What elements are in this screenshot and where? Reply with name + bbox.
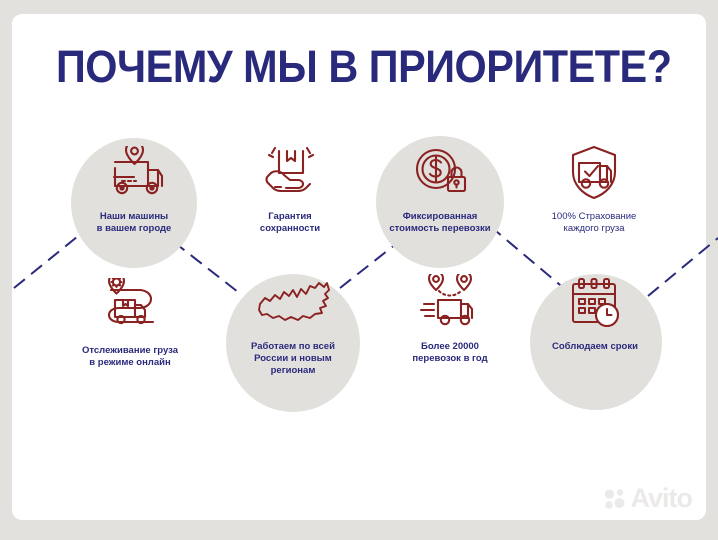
- feature-label: Фиксированная стоимость перевозки: [370, 211, 510, 235]
- feature-own-fleet[interactable]: Наши машины в вашем городе: [64, 142, 204, 235]
- feature-label: Соблюдаем сроки: [525, 341, 665, 353]
- feature-label: Более 20000 перевозок в год: [380, 341, 520, 365]
- feature-label: Наши машины в вашем городе: [64, 211, 204, 235]
- truck-pin-icon: [64, 142, 204, 204]
- feature-volume[interactable]: Более 20000 перевозок в год: [380, 272, 520, 365]
- avito-watermark: Avito: [603, 485, 693, 512]
- hand-box-icon: [220, 142, 360, 204]
- shield-truck-check-icon: [524, 142, 664, 204]
- feature-online-tracking[interactable]: Отслеживание груза в режиме онлайн: [60, 276, 200, 369]
- calendar-clock-icon: [525, 272, 665, 334]
- poster-card: ПОЧЕМУ МЫ В ПРИОРИТЕТЕ?: [12, 14, 706, 520]
- page-title: ПОЧЕМУ МЫ В ПРИОРИТЕТЕ?: [56, 44, 672, 89]
- feature-all-russia[interactable]: Работаем по всей России и новым регионам: [223, 272, 363, 377]
- avito-logo-icon: [603, 487, 627, 511]
- coin-lock-icon: [370, 142, 510, 204]
- avito-watermark-label: Avito: [631, 485, 693, 512]
- truck-route-gear-icon: [60, 276, 200, 338]
- feature-fixed-price[interactable]: Фиксированная стоимость перевозки: [370, 142, 510, 235]
- feature-insurance[interactable]: 100% Страхование каждого груза: [524, 142, 664, 235]
- feature-label: 100% Страхование каждого груза: [524, 211, 664, 235]
- feature-label: Отслеживание груза в режиме онлайн: [60, 345, 200, 369]
- feature-label: Гарантия сохранности: [220, 211, 360, 235]
- truck-two-pins-icon: [380, 272, 520, 334]
- feature-label: Работаем по всей России и новым регионам: [223, 341, 363, 377]
- feature-on-time[interactable]: Соблюдаем сроки: [525, 272, 665, 353]
- feature-safety-guarantee[interactable]: Гарантия сохранности: [220, 142, 360, 235]
- russia-map-icon: [223, 272, 363, 334]
